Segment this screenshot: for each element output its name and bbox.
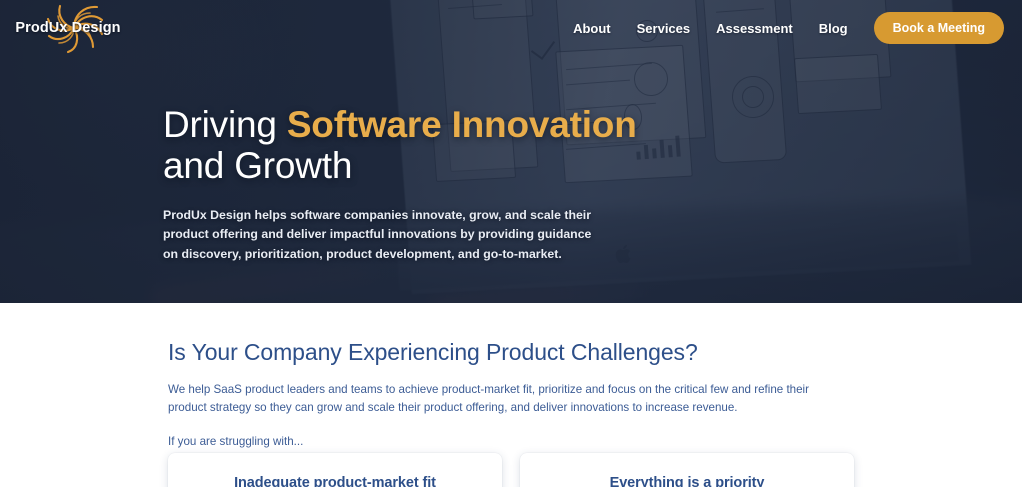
hero-subtitle: ProdUx Design helps software companies i… (163, 206, 595, 264)
hero-title-lead: Driving (163, 104, 287, 145)
product-challenges-section: Is Your Company Experiencing Product Cha… (0, 303, 1022, 452)
landing-page: ProdUx Design About Services Assessment … (0, 0, 1022, 487)
card-title: Inadequate product-market fit (168, 474, 502, 487)
card-title: Everything is a priority (520, 474, 854, 487)
section-heading: Is Your Company Experiencing Product Cha… (168, 339, 858, 367)
hero-title-tail: and Growth (163, 145, 352, 186)
main-navigation: ProdUx Design About Services Assessment … (0, 0, 1022, 56)
nav-item-assessment[interactable]: Assessment (716, 21, 793, 36)
nav-links: About Services Assessment Blog Book a Me… (573, 12, 1004, 44)
section-body-text: We help SaaS product leaders and teams t… (168, 381, 840, 419)
section-note-text: If you are struggling with... (168, 433, 858, 452)
book-a-meeting-button[interactable]: Book a Meeting (874, 12, 1004, 44)
challenge-card-product-market-fit[interactable]: Inadequate product-market fit (168, 453, 502, 487)
challenge-cards: Inadequate product-market fit Everything… (168, 453, 854, 487)
brand-name: ProdUx Design (15, 20, 120, 36)
hero-title: Driving Software Innovation and Growth (163, 104, 783, 187)
nav-item-about[interactable]: About (573, 21, 611, 36)
hero-title-accent: Software Innovation (287, 104, 637, 145)
brand-logo[interactable]: ProdUx Design (13, 3, 123, 53)
nav-item-blog[interactable]: Blog (819, 21, 848, 36)
nav-item-services[interactable]: Services (637, 21, 691, 36)
challenge-card-everything-is-a-priority[interactable]: Everything is a priority (520, 453, 854, 487)
hero-section: ProdUx Design About Services Assessment … (0, 0, 1022, 303)
section-inner: Is Your Company Experiencing Product Cha… (168, 339, 858, 452)
hero-content: Driving Software Innovation and Growth P… (163, 104, 783, 264)
